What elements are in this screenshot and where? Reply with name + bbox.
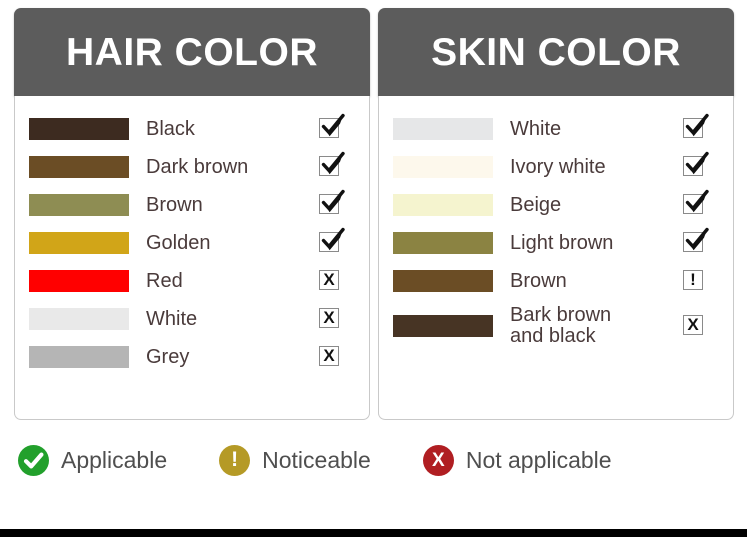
color-name-label: Golden bbox=[146, 233, 319, 254]
x-circle-icon: X bbox=[423, 445, 454, 476]
hair-color-row-list: BlackDark brownBrownGoldenRedXWhiteXGrey… bbox=[29, 110, 357, 376]
color-applicability-chart: HAIR COLOR BlackDark brownBrownGoldenRed… bbox=[0, 0, 747, 537]
color-swatch bbox=[29, 156, 129, 178]
color-name-label: Dark brown bbox=[146, 157, 319, 178]
check-glyph bbox=[320, 151, 346, 177]
checkmark-icon bbox=[683, 156, 705, 178]
checkmark-icon bbox=[319, 156, 341, 178]
color-name-label: Brown bbox=[510, 271, 683, 292]
legend-item-applicable: Applicable bbox=[18, 445, 167, 476]
checkmark-icon bbox=[319, 194, 341, 216]
color-name-label: Beige bbox=[510, 195, 683, 216]
color-swatch bbox=[29, 346, 129, 368]
exclamation-glyph: ! bbox=[231, 449, 238, 470]
color-row: Black bbox=[29, 110, 357, 148]
checkmark-icon bbox=[683, 118, 705, 140]
not-applicable-icon: X bbox=[319, 308, 341, 330]
color-row: Light brown bbox=[393, 224, 721, 262]
color-swatch bbox=[29, 270, 129, 292]
x-glyph: X bbox=[683, 315, 703, 335]
check-glyph bbox=[684, 151, 710, 177]
x-glyph: X bbox=[319, 308, 339, 328]
panel-skin-color: SKIN COLOR WhiteIvory whiteBeigeLight br… bbox=[378, 8, 734, 420]
panel-hair-color: HAIR COLOR BlackDark brownBrownGoldenRed… bbox=[14, 8, 370, 420]
check-glyph bbox=[684, 113, 710, 139]
check-glyph bbox=[320, 227, 346, 253]
legend-item-not-applicable: X Not applicable bbox=[423, 445, 612, 476]
color-name-label: Brown bbox=[146, 195, 319, 216]
check-glyph bbox=[684, 189, 710, 215]
panel-hair-color-header: HAIR COLOR bbox=[14, 8, 370, 96]
color-name-label: White bbox=[146, 309, 319, 330]
color-swatch bbox=[393, 194, 493, 216]
color-name-label: Light brown bbox=[510, 233, 683, 254]
check-glyph bbox=[684, 227, 710, 253]
checkmark-icon bbox=[319, 232, 341, 254]
color-row: Brown! bbox=[393, 262, 721, 300]
color-row: RedX bbox=[29, 262, 357, 300]
color-swatch bbox=[29, 308, 129, 330]
color-swatch bbox=[29, 194, 129, 216]
panel-skin-color-title: SKIN COLOR bbox=[431, 33, 681, 72]
check-glyph bbox=[320, 113, 346, 139]
legend-item-noticeable: ! Noticeable bbox=[219, 445, 371, 476]
color-swatch bbox=[393, 232, 493, 254]
color-row: White bbox=[393, 110, 721, 148]
color-swatch bbox=[393, 270, 493, 292]
legend-label-not-applicable: Not applicable bbox=[466, 447, 612, 474]
panel-skin-color-body: WhiteIvory whiteBeigeLight brownBrown!Ba… bbox=[378, 96, 734, 420]
color-row: Ivory white bbox=[393, 148, 721, 186]
legend: Applicable ! Noticeable X Not applicable bbox=[14, 436, 734, 484]
check-glyph bbox=[320, 189, 346, 215]
color-name-label: Bark brown and black bbox=[510, 305, 683, 347]
x-glyph: X bbox=[432, 451, 445, 470]
color-name-label: Grey bbox=[146, 347, 319, 368]
checkmark-icon bbox=[683, 232, 705, 254]
color-row: GreyX bbox=[29, 338, 357, 376]
color-name-label: White bbox=[510, 119, 683, 140]
not-applicable-icon: X bbox=[319, 346, 341, 368]
x-glyph: X bbox=[319, 270, 339, 290]
skin-color-row-list: WhiteIvory whiteBeigeLight brownBrown!Ba… bbox=[393, 110, 721, 352]
not-applicable-icon: X bbox=[319, 270, 341, 292]
panel-skin-color-header: SKIN COLOR bbox=[378, 8, 734, 96]
x-glyph: X bbox=[319, 346, 339, 366]
color-row: Dark brown bbox=[29, 148, 357, 186]
color-row: Beige bbox=[393, 186, 721, 224]
color-row: WhiteX bbox=[29, 300, 357, 338]
panel-hair-color-body: BlackDark brownBrownGoldenRedXWhiteXGrey… bbox=[14, 96, 370, 420]
exclamation-glyph: ! bbox=[683, 270, 703, 290]
noticeable-icon: ! bbox=[683, 270, 705, 292]
not-applicable-icon: X bbox=[683, 315, 705, 337]
color-swatch bbox=[29, 118, 129, 140]
color-row: Bark brown and blackX bbox=[393, 300, 721, 352]
color-row: Golden bbox=[29, 224, 357, 262]
color-swatch bbox=[393, 118, 493, 140]
color-name-label: Black bbox=[146, 119, 319, 140]
color-swatch bbox=[29, 232, 129, 254]
color-name-label: Ivory white bbox=[510, 157, 683, 178]
checkmark-icon bbox=[319, 118, 341, 140]
bottom-bar bbox=[0, 529, 747, 537]
check-circle-icon bbox=[18, 445, 49, 476]
checkmark-icon bbox=[683, 194, 705, 216]
color-swatch bbox=[393, 315, 493, 337]
color-name-label: Red bbox=[146, 271, 319, 292]
exclamation-circle-icon: ! bbox=[219, 445, 250, 476]
legend-label-applicable: Applicable bbox=[61, 447, 167, 474]
color-swatch bbox=[393, 156, 493, 178]
color-row: Brown bbox=[29, 186, 357, 224]
legend-label-noticeable: Noticeable bbox=[262, 447, 371, 474]
panel-hair-color-title: HAIR COLOR bbox=[66, 33, 318, 72]
